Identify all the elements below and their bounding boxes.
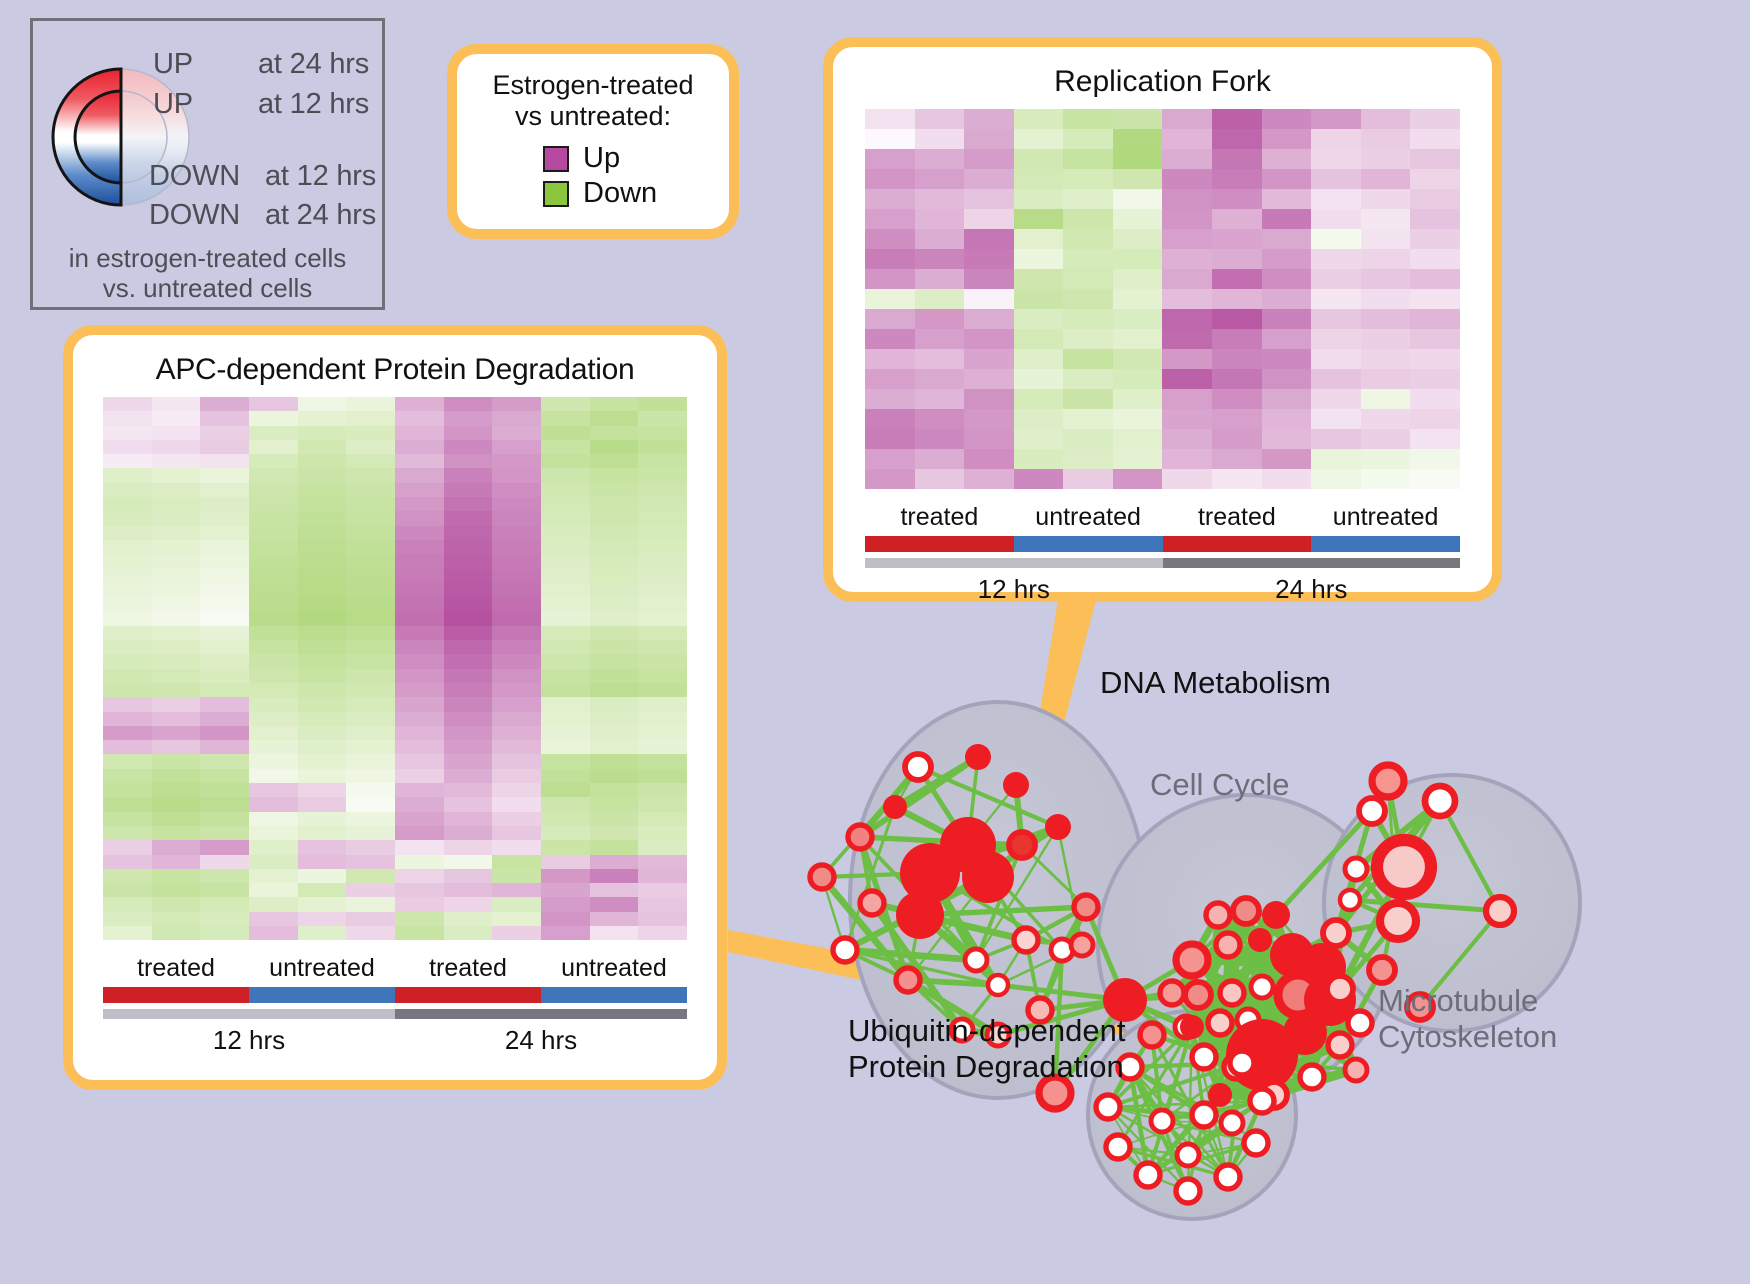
heatmap-cell [590,754,639,768]
heatmap-cell [103,840,152,854]
network-node [1045,814,1071,840]
network-graph [800,615,1750,1279]
wheel-time-up-24: at 24 hrs [258,48,369,81]
heatmap-cell [590,683,639,697]
network-node [1377,840,1431,894]
heatmap-cell [541,855,590,869]
heatmap-cell [1014,469,1064,489]
heatmap-cell [152,454,201,468]
heatmap-cell [298,583,347,597]
heatmap-cell [865,449,915,469]
heatmap-cell [964,349,1014,369]
heatmap-cell [298,869,347,883]
heatmap-cell [865,269,915,289]
heatmap-cell [298,726,347,740]
heatmap-cell [1410,409,1460,429]
axis-timepoint-bars [865,558,1460,568]
axis-treatment-bar [249,987,395,1003]
heatmap-cell [638,426,687,440]
heatmap-cell [1014,109,1064,129]
heatmap-cell [1262,429,1312,449]
heatmap-cell [395,926,444,940]
heatmap-cell [1311,349,1361,369]
heatmap-cell [492,611,541,625]
heatmap-cell [492,797,541,811]
heatmap-cell [444,812,493,826]
heatmap-cell [964,309,1014,329]
heatmap-cell [395,454,444,468]
apc-axis: treateduntreatedtreateduntreated12 hrs24… [103,954,687,1056]
heatmap-cell [492,740,541,754]
heatmap-cell [1262,269,1312,289]
heatmap-cell [200,468,249,482]
heatmap-cell [915,329,965,349]
heatmap-cell [444,654,493,668]
heatmap-cell [1113,209,1163,229]
axis-timepoint-bar [865,558,1163,568]
legend-title-line2: vs untreated: [467,101,719,132]
axis-timepoint-labels: 12 hrs24 hrs [865,574,1460,605]
heatmap-cell [200,583,249,597]
heatmap-cell [865,289,915,309]
heatmap-cell [541,683,590,697]
heatmap-cell [444,869,493,883]
axis-group-label: treated [103,954,249,983]
heatmap-cell [1014,129,1064,149]
heatmap-cell [152,654,201,668]
heatmap-cell [1361,269,1411,289]
heatmap-cell [1311,189,1361,209]
heatmap-cell [395,440,444,454]
heatmap-cell [1113,269,1163,289]
network-node [848,825,872,849]
heatmap-cell [1063,289,1113,309]
heatmap-cell [298,683,347,697]
pathway-network-diagram: DNA Metabolism Cell Cycle Microtubule Cy… [800,615,1750,1279]
heatmap-cell [492,569,541,583]
heatmap-cell [1113,129,1163,149]
heatmap-cell [590,883,639,897]
heatmap-cell [1410,149,1460,169]
wheel-state-up-12: UP [153,88,193,121]
heatmap-cell [444,554,493,568]
heatmap-cell [200,511,249,525]
heatmap-cell [638,697,687,711]
heatmap-cell [1311,229,1361,249]
network-node [1192,1103,1216,1127]
heatmap-cell [638,583,687,597]
axis-group-label: treated [1163,503,1312,532]
heatmap-cell [1311,449,1361,469]
heatmap-cell [590,468,639,482]
heatmap-cell [444,611,493,625]
heatmap-cell [964,329,1014,349]
heatmap-cell [103,611,152,625]
heatmap-cell [1212,469,1262,489]
heatmap-cell [638,397,687,411]
heatmap-cell [200,526,249,540]
heatmap-cell [1162,449,1212,469]
axis-treatment-bar [395,987,541,1003]
network-node [1323,920,1349,946]
apc-heatmap [103,397,687,940]
heatmap-cell [964,429,1014,449]
heatmap-cell [1014,409,1064,429]
heatmap-cell [1063,469,1113,489]
heatmap-cell [1361,249,1411,269]
heatmap-cell [964,229,1014,249]
heatmap-cell [152,440,201,454]
wheel-state-up-24: UP [153,48,193,81]
heatmap-cell [1361,369,1411,389]
heatmap-cell [915,109,965,129]
network-node [1248,928,1272,952]
heatmap-cell [298,640,347,654]
network-node [1369,957,1395,983]
heatmap-cell [865,369,915,389]
heatmap-cell [1014,369,1064,389]
axis-timepoint-bar [1163,558,1461,568]
heatmap-cell [152,783,201,797]
network-node [1180,1015,1204,1039]
heatmap-cell [964,249,1014,269]
heatmap-cell [152,397,201,411]
heatmap-cell [200,654,249,668]
heatmap-cell [1361,189,1411,209]
heatmap-cell [444,826,493,840]
axis-timepoint-bar [395,1009,687,1019]
axis-treatment-bar [541,987,687,1003]
heatmap-cell [638,855,687,869]
heatmap-cell [395,583,444,597]
heatmap-cell [200,726,249,740]
network-node [833,938,857,962]
heatmap-cell [638,897,687,911]
heatmap-cell [395,754,444,768]
heatmap-cell [103,697,152,711]
replication-fork-axis: treateduntreatedtreateduntreated12 hrs24… [865,503,1460,605]
network-node [1192,1045,1216,1069]
heatmap-cell [395,897,444,911]
heatmap-cell [444,397,493,411]
wheel-time-down-24: at 24 hrs [265,199,376,232]
heatmap-cell [541,426,590,440]
heatmap-cell [964,469,1014,489]
heatmap-cell [1063,369,1113,389]
heatmap-cell [249,440,298,454]
heatmap-cell [1063,429,1113,449]
heatmap-cell [346,454,395,468]
heatmap-cell [1262,289,1312,309]
heatmap-cell [103,511,152,525]
heatmap-cell [444,540,493,554]
heatmap-cell [346,569,395,583]
network-node [1486,897,1514,925]
heatmap-cell [346,611,395,625]
heatmap-cell [395,483,444,497]
heatmap-cell [1162,269,1212,289]
expression-legend-card: Estrogen-treated vs untreated: Up Down [447,44,739,239]
network-node [1425,786,1455,816]
heatmap-cell [346,483,395,497]
heatmap-cell [444,454,493,468]
heatmap-cell [492,397,541,411]
heatmap-cell [492,855,541,869]
heatmap-cell [395,654,444,668]
heatmap-cell [1162,389,1212,409]
heatmap-cell [298,569,347,583]
heatmap-cell [638,769,687,783]
heatmap-cell [1311,309,1361,329]
wheel-footnote-line2: vs. untreated cells [33,273,382,304]
network-node [1220,981,1244,1005]
heatmap-cell [444,726,493,740]
network-node [1345,858,1367,880]
heatmap-cell [249,869,298,883]
heatmap-cell [152,840,201,854]
heatmap-cell [1212,289,1262,309]
heatmap-cell [346,626,395,640]
heatmap-cell [103,826,152,840]
heatmap-cell [915,189,965,209]
network-node [810,865,834,889]
heatmap-cell [1162,249,1212,269]
network-node [1348,1011,1372,1035]
heatmap-cell [1212,129,1262,149]
heatmap-cell [915,429,965,449]
heatmap-cell [103,855,152,869]
heatmap-cell [1014,169,1064,189]
heatmap-cell [200,540,249,554]
heatmap-cell [1113,389,1163,409]
heatmap-cell [298,769,347,783]
heatmap-cell [1063,129,1113,149]
heatmap-cell [590,669,639,683]
heatmap-cell [152,411,201,425]
heatmap-cell [638,569,687,583]
heatmap-cell [395,468,444,482]
heatmap-cell [395,769,444,783]
heatmap-cell [152,683,201,697]
heatmap-cell [638,511,687,525]
heatmap-cell [964,289,1014,309]
heatmap-cell [1014,229,1064,249]
heatmap-cell [200,554,249,568]
heatmap-cell [638,440,687,454]
heatmap-cell [590,840,639,854]
heatmap-cell [152,740,201,754]
replication-fork-title: Replication Fork [833,47,1492,99]
heatmap-cell [590,440,639,454]
heatmap-cell [541,869,590,883]
heatmap-cell [395,540,444,554]
legend-item-up-label: Up [583,142,620,175]
heatmap-cell [1014,449,1064,469]
heatmap-cell [1063,189,1113,209]
heatmap-cell [249,526,298,540]
heatmap-cell [298,654,347,668]
heatmap-cell [865,309,915,329]
heatmap-cell [444,840,493,854]
heatmap-cell [298,840,347,854]
heatmap-cell [1410,309,1460,329]
heatmap-cell [200,697,249,711]
heatmap-cell [865,349,915,369]
heatmap-cell [590,597,639,611]
heatmap-cell [444,569,493,583]
heatmap-cell [492,712,541,726]
heatmap-cell [1410,329,1460,349]
heatmap-cell [152,554,201,568]
heatmap-cell [298,511,347,525]
heatmap-cell [865,209,915,229]
heatmap-cell [492,526,541,540]
network-node [988,975,1008,995]
heatmap-cell [298,712,347,726]
heatmap-cell [298,497,347,511]
heatmap-cell [152,883,201,897]
heatmap-cell [541,626,590,640]
heatmap-cell [1262,449,1312,469]
heatmap-cell [346,926,395,940]
heatmap-cell [915,389,965,409]
heatmap-cell [395,526,444,540]
heatmap-cell [590,397,639,411]
heatmap-cell [346,855,395,869]
heatmap-cell [492,912,541,926]
heatmap-cell [249,654,298,668]
heatmap-cell [590,812,639,826]
heatmap-cell [346,554,395,568]
heatmap-cell [395,411,444,425]
heatmap-cell [200,883,249,897]
heatmap-cell [541,769,590,783]
heatmap-cell [200,912,249,926]
heatmap-cell [103,526,152,540]
axis-group-label: untreated [249,954,395,983]
heatmap-cell [152,826,201,840]
heatmap-cell [1262,229,1312,249]
heatmap-cell [1361,389,1411,409]
heatmap-cell [395,826,444,840]
heatmap-cell [865,469,915,489]
heatmap-cell [1113,169,1163,189]
heatmap-cell [1410,289,1460,309]
heatmap-cell [249,540,298,554]
network-node [1340,890,1360,910]
heatmap-cell [541,440,590,454]
heatmap-cell [346,583,395,597]
heatmap-cell [1262,369,1312,389]
heatmap-cell [200,826,249,840]
heatmap-cell [298,826,347,840]
heatmap-cell [249,726,298,740]
heatmap-cell [541,468,590,482]
heatmap-cell [865,149,915,169]
heatmap-cell [1162,229,1212,249]
heatmap-cell [444,440,493,454]
heatmap-cell [638,683,687,697]
heatmap-cell [1014,429,1064,449]
heatmap-cell [444,683,493,697]
heatmap-cell [492,511,541,525]
heatmap-cell [865,109,915,129]
heatmap-cell [638,912,687,926]
heatmap-cell [298,754,347,768]
heatmap-cell [1063,249,1113,269]
heatmap-cell [395,726,444,740]
heatmap-cell [541,697,590,711]
heatmap-cell [103,797,152,811]
heatmap-cell [1212,149,1262,169]
heatmap-cell [103,783,152,797]
heatmap-cell [1262,129,1312,149]
heatmap-cell [638,826,687,840]
heatmap-cell [1162,169,1212,189]
heatmap-cell [1212,449,1262,469]
apc-degradation-title: APC-dependent Protein Degradation [73,335,717,387]
heatmap-cell [1162,109,1212,129]
heatmap-cell [249,840,298,854]
heatmap-cell [1311,469,1361,489]
axis-timepoint-bar [103,1009,395,1019]
heatmap-cell [1162,129,1212,149]
heatmap-cell [346,640,395,654]
heatmap-cell [915,169,965,189]
heatmap-cell [395,511,444,525]
heatmap-cell [152,497,201,511]
heatmap-cell [1162,429,1212,449]
heatmap-cell [590,897,639,911]
heatmap-cell [1212,269,1262,289]
heatmap-cell [395,883,444,897]
heatmap-cell [346,783,395,797]
heatmap-cell [1311,289,1361,309]
heatmap-cell [200,669,249,683]
heatmap-cell [1063,149,1113,169]
heatmap-cell [1212,329,1262,349]
heatmap-cell [152,583,201,597]
heatmap-cell [865,189,915,209]
heatmap-cell [492,626,541,640]
heatmap-cell [541,540,590,554]
network-node [1206,903,1230,927]
heatmap-cell [249,483,298,497]
heatmap-cell [541,826,590,840]
heatmap-cell [638,869,687,883]
heatmap-cell [346,912,395,926]
heatmap-cell [1113,349,1163,369]
network-node [1244,1131,1268,1155]
heatmap-cell [638,611,687,625]
heatmap-cell [1212,229,1262,249]
network-node [1136,1163,1160,1187]
heatmap-cell [103,726,152,740]
heatmap-cell [1162,369,1212,389]
heatmap-cell [395,869,444,883]
cluster-label-ubiquitin-line1: Ubiquitin-dependent [848,1013,1126,1048]
heatmap-cell [1262,109,1312,129]
network-node [1221,1112,1243,1134]
heatmap-cell [298,454,347,468]
heatmap-cell [249,454,298,468]
heatmap-cell [249,554,298,568]
heatmap-cell [638,783,687,797]
heatmap-cell [395,912,444,926]
heatmap-cell [1361,449,1411,469]
heatmap-cell [541,569,590,583]
heatmap-cell [590,540,639,554]
